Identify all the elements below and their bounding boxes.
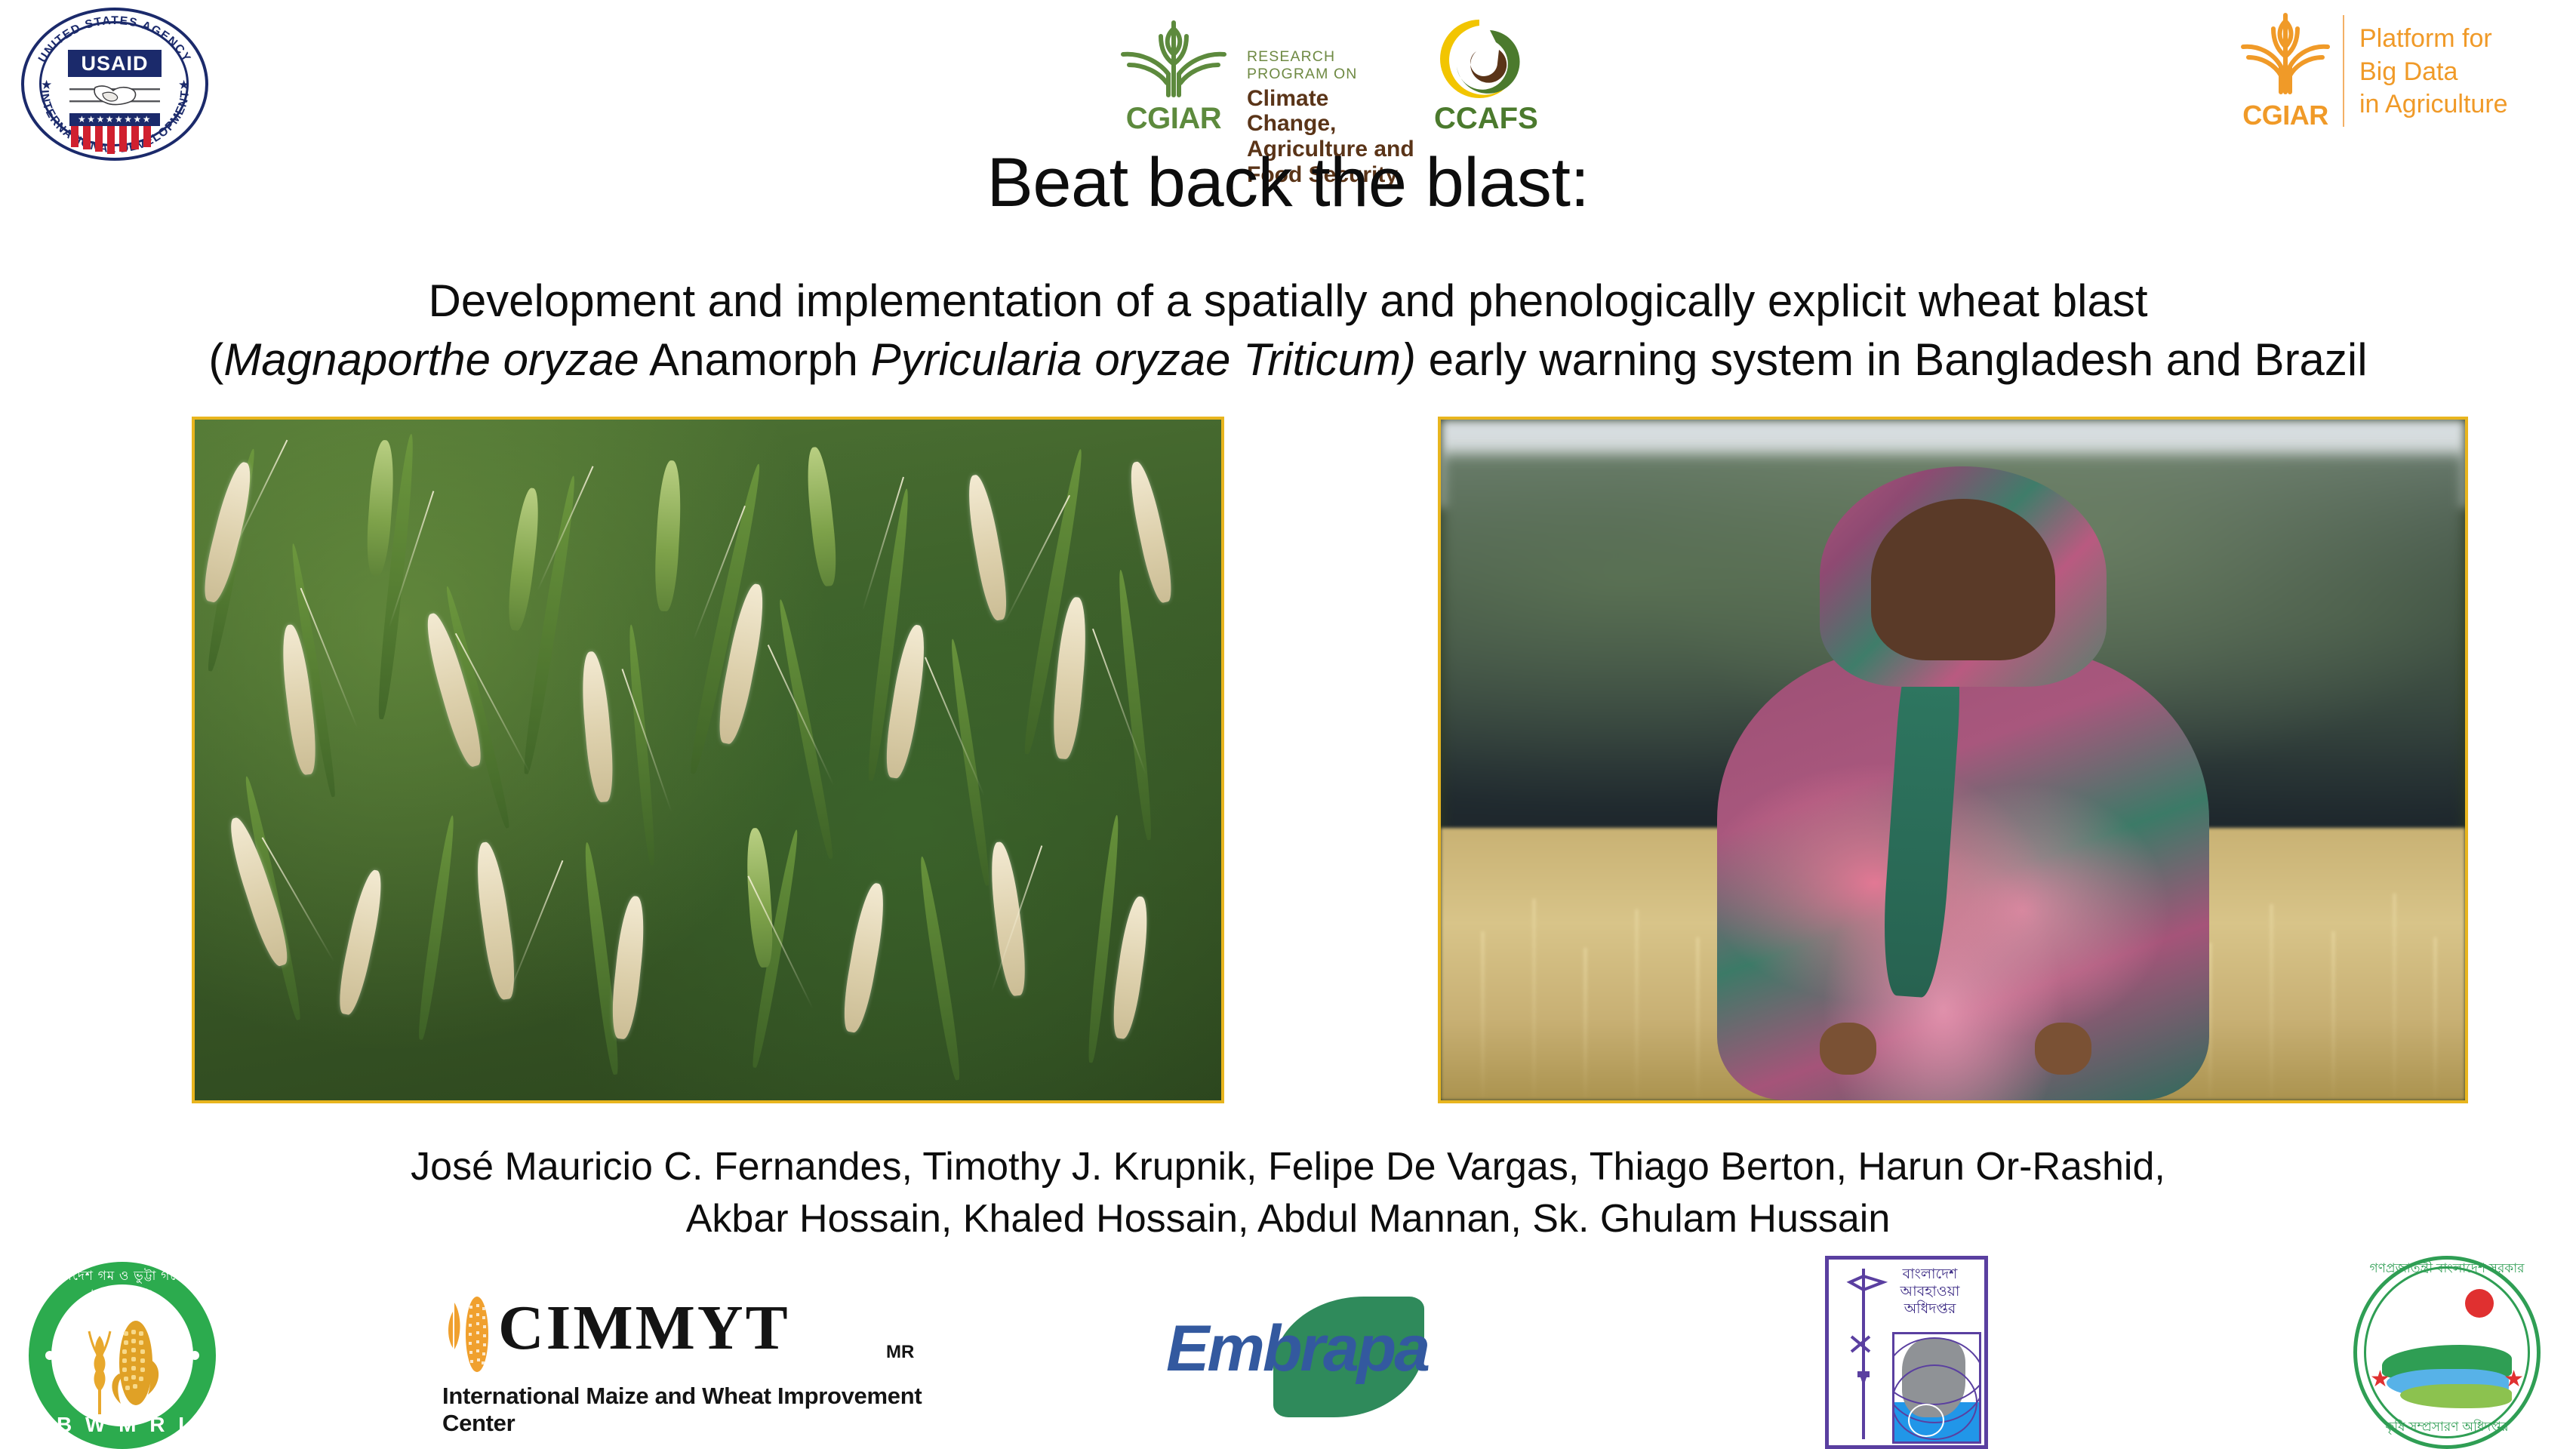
- red-star-right: ★: [2504, 1366, 2524, 1392]
- cimmyt-logo: CIMMYT MR International Maize and Wheat …: [442, 1295, 940, 1423]
- cgiar-big-data-platform-logo: CGIAR Platform for Big Data in Agricultu…: [2239, 11, 2556, 140]
- dae-bengali-bottom-text: কৃষি সম্প্রসারণ অধিদপ্তর: [2353, 1417, 2541, 1438]
- usaid-wordmark: USAID: [68, 50, 162, 77]
- right-hand: [2035, 1023, 2091, 1075]
- svg-text:★: ★: [41, 78, 52, 92]
- cimmyt-trademark: MR: [886, 1342, 914, 1363]
- bmd-bengali-text: বাংলাদেশ আবহাওয়া অধিদপ্তর: [1882, 1266, 1978, 1318]
- ccafs-spiral-icon: CCAFS: [1434, 17, 1525, 136]
- usaid-stars: ★★★★★★★★: [69, 113, 160, 126]
- subtitle-line-2: (Magnaporthe oryzae Anamorph Pyricularia…: [0, 331, 2576, 389]
- bmd-bengali-line1: বাংলাদেশ: [1882, 1266, 1978, 1283]
- svg-text:★: ★: [178, 78, 189, 92]
- ccafs-logo: CGIAR RESEARCH PROGRAM ON Climate Change…: [1117, 17, 1540, 145]
- left-hand: [1820, 1023, 1876, 1075]
- dae-bengali-top-text: গণপ্রজাতন্ত্রী বাংলাদেশ সরকার: [2353, 1259, 2541, 1280]
- ccafs-acronym: CCAFS: [1434, 102, 1525, 136]
- slide-subtitle: Development and implementation of a spat…: [0, 272, 2576, 389]
- presentation-title-slide: UNITED STATES AGENCY INTERNATIONAL DEVEL…: [0, 0, 2576, 1449]
- subtitle-anamorph: Anamorph: [639, 334, 871, 385]
- hair: [1871, 499, 2055, 660]
- embrapa-wordmark: Embrapa: [1166, 1316, 1468, 1381]
- bmd-bengali-line3: অধিদপ্তর: [1882, 1300, 1978, 1318]
- woman-farmer-photo: [1438, 417, 2468, 1103]
- bwmri-logo: বাংলাদেশ গম ও ভুট্টা গবেষণা ইনস্টিটিউট: [29, 1262, 216, 1449]
- bwmri-acronym: B W M R I: [29, 1413, 216, 1437]
- sun-icon: [2465, 1289, 2494, 1318]
- species-name-magnaporthe: Magnaporthe oryzae: [223, 334, 639, 385]
- wheat-and-maize-icon: [75, 1301, 169, 1414]
- cgiar-wordmark-orange: CGIAR: [2239, 100, 2332, 131]
- cgiar-wheat-icon-orange: CGIAR: [2239, 11, 2332, 131]
- species-name-pyricularia: Pyricularia oryzae Triticum): [871, 334, 1416, 385]
- cimmyt-wordmark: CIMMYT: [498, 1297, 790, 1360]
- usaid-logo: UNITED STATES AGENCY INTERNATIONAL DEVEL…: [21, 8, 210, 162]
- bigdata-line3: in Agriculture: [2359, 88, 2508, 122]
- author-line-2: Akbar Hossain, Khaled Hossain, Abdul Man…: [0, 1193, 2576, 1245]
- embrapa-logo: Embrapa: [1166, 1297, 1468, 1417]
- subtitle-line-1: Development and implementation of a spat…: [0, 272, 2576, 331]
- author-list: José Mauricio C. Fernandes, Timothy J. K…: [0, 1141, 2576, 1244]
- red-star-left: ★: [2370, 1366, 2390, 1392]
- cimmyt-tagline: International Maize and Wheat Improvemen…: [442, 1383, 940, 1437]
- bigdata-line1: Platform for: [2359, 23, 2508, 56]
- bigdata-text-block: Platform for Big Data in Agriculture: [2359, 11, 2508, 122]
- cgiar-wheat-icon: CGIAR: [1117, 17, 1230, 136]
- wheat-blast-photo-content: [195, 420, 1221, 1100]
- author-line-1: José Mauricio C. Fernandes, Timothy J. K…: [0, 1141, 2576, 1193]
- wheat-blast-photo: [192, 417, 1224, 1103]
- bmd-bengali-line2: আবহাওয়া: [1882, 1283, 1978, 1300]
- floral-sari-body: [1717, 648, 2208, 1100]
- cimmyt-wheat-maize-icon: [442, 1295, 501, 1380]
- subtitle-paren-open: (: [208, 334, 223, 385]
- handshake-icon: [69, 82, 160, 110]
- bwmri-dot-right: [190, 1351, 199, 1360]
- bangladesh-meteorological-department-logo: বাংলাদেশ আবহাওয়া অধিদপ্তর: [1825, 1256, 1988, 1449]
- bangladesh-map-with-radar-icon: [1892, 1332, 1981, 1444]
- woman-farmer-photo-content: [1441, 420, 2465, 1100]
- department-of-agricultural-extension-logo: গণপ্রজাতন্ত্রী বাংলাদেশ সরকার ★ ★ কৃষি স…: [2353, 1256, 2541, 1449]
- woman-farmer-figure: [1707, 454, 2220, 1100]
- ccafs-line1: Climate Change,: [1247, 86, 1414, 137]
- radar-arc-4: [1908, 1404, 1944, 1437]
- slide-title: Beat back the blast:: [0, 148, 2576, 217]
- bwmri-dot-left: [45, 1351, 54, 1360]
- bigdata-line2: Big Data: [2359, 56, 2508, 89]
- subtitle-tail: early warning system in Bangladesh and B…: [1416, 334, 2368, 385]
- ccafs-kicker: RESEARCH PROGRAM ON: [1247, 48, 1414, 84]
- bigdata-divider: [2343, 15, 2344, 127]
- cgiar-wordmark: CGIAR: [1117, 102, 1230, 136]
